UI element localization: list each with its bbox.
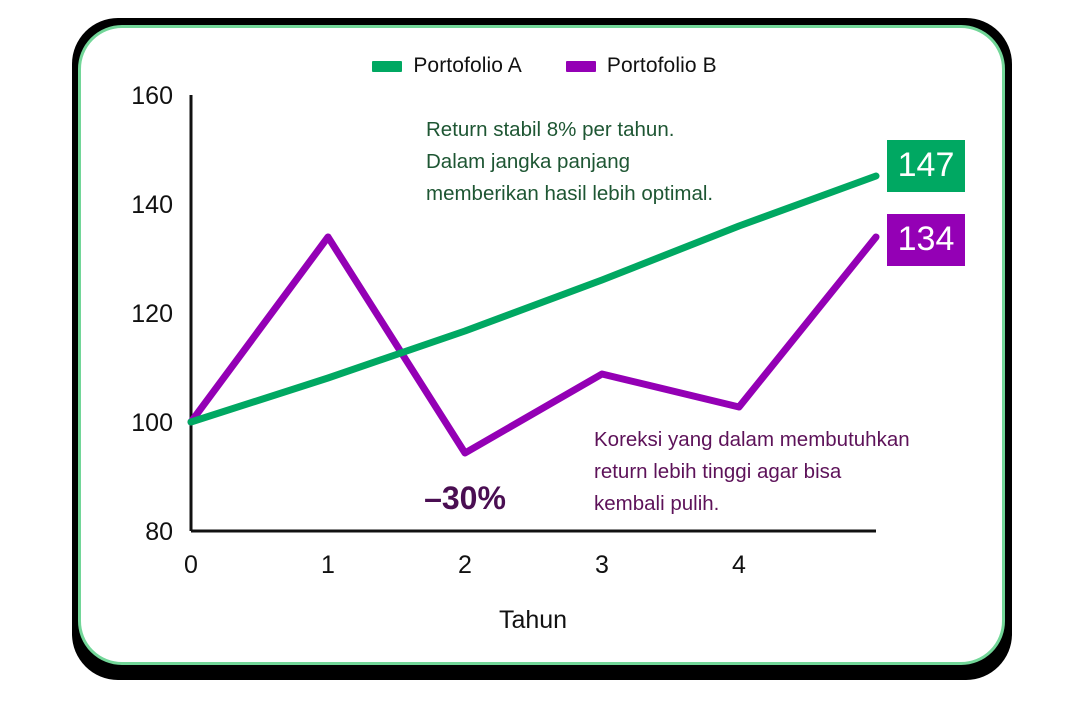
x-tick-1: 1	[321, 551, 335, 579]
y-tick-80: 80	[145, 518, 173, 546]
y-axis-ticks: 160 140 120 100 80	[131, 82, 173, 546]
y-tick-120: 120	[131, 300, 173, 328]
annotation-purple-line2: return lebih tinggi agar bisa	[594, 460, 842, 483]
end-badge-portofolio-a-value: 147	[898, 146, 955, 184]
drop-callout-label: –30%	[424, 480, 506, 516]
annotation-green-line1: Return stabil 8% per tahun.	[426, 118, 674, 141]
x-tick-2: 2	[458, 551, 472, 579]
x-tick-0: 0	[184, 551, 198, 579]
annotation-green-line3: memberikan hasil lebih optimal.	[426, 182, 713, 205]
x-tick-3: 3	[595, 551, 609, 579]
end-badge-portofolio-a: 147	[887, 140, 965, 192]
y-tick-100: 100	[131, 409, 173, 437]
annotation-purple-line3: kembali pulih.	[594, 492, 719, 515]
annotation-purple-line1: Koreksi yang dalam membutuhkan	[594, 428, 910, 451]
x-tick-4: 4	[732, 551, 746, 579]
x-axis-ticks: 0 1 2 3 4	[184, 551, 746, 579]
y-tick-160: 160	[131, 82, 173, 110]
end-badge-portofolio-b-value: 134	[898, 220, 955, 258]
annotation-green-line2: Dalam jangka panjang	[426, 150, 630, 173]
screenshot-root: Portofolio A Portofolio B 160 140 120	[0, 0, 1080, 705]
x-axis-title: Tahun	[499, 606, 567, 634]
annotation-green: Return stabil 8% per tahun. Dalam jangka…	[426, 118, 713, 205]
series-line-portofolio-b	[191, 237, 876, 453]
y-tick-140: 140	[131, 191, 173, 219]
chart-plot-area: 160 140 120 100 80 0 1 2 3 4 Tahun	[81, 28, 1008, 668]
chart-card: Portofolio A Portofolio B 160 140 120	[78, 25, 1005, 665]
end-badge-portofolio-b: 134	[887, 214, 965, 266]
series-line-portofolio-a	[191, 176, 876, 422]
annotation-purple: Koreksi yang dalam membutuhkan return le…	[594, 428, 910, 515]
